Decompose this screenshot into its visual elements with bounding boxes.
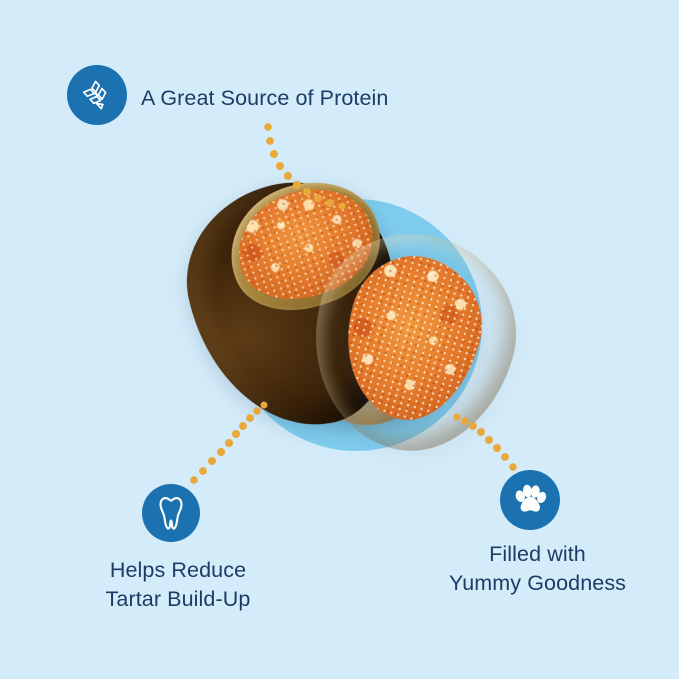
feature-label-tartar: Helps Reduce Tartar Build-Up xyxy=(18,556,338,613)
tooth-icon xyxy=(154,494,188,532)
feature-badge-flavor[interactable] xyxy=(500,470,560,530)
feature-badge-tartar[interactable] xyxy=(142,484,200,542)
paw-print-icon xyxy=(511,481,549,519)
feature-label-flavor: Filled with Yummy Goodness xyxy=(400,540,675,597)
infographic-canvas: A Great Source of Protein Helps Reduce T… xyxy=(0,0,679,679)
feature-label-protein: A Great Source of Protein xyxy=(141,84,389,113)
feature-badge-protein[interactable] xyxy=(67,65,127,125)
product-image xyxy=(185,175,515,460)
dna-helix-icon xyxy=(79,77,115,113)
